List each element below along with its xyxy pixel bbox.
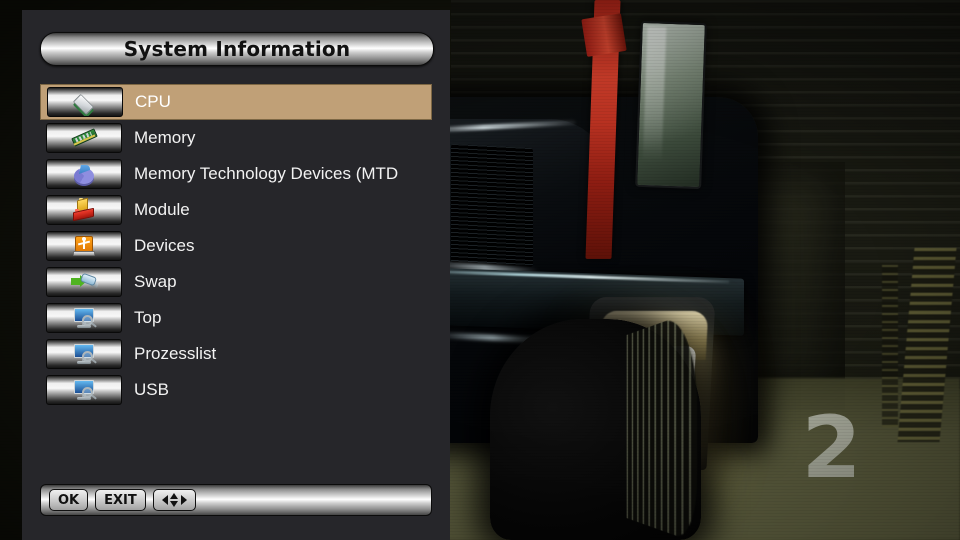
menu-item-label: Memory: [134, 128, 195, 148]
osd-screen: 2 System Information CPU: [0, 0, 960, 540]
exit-button[interactable]: EXIT: [95, 489, 146, 511]
panel-title-bar: System Information: [40, 32, 434, 66]
icon-frame: [47, 87, 123, 117]
ok-button[interactable]: OK: [49, 489, 88, 511]
system-information-menu: CPU Memory Memory Technology Devices (MT…: [40, 84, 432, 408]
icon-frame: [46, 231, 122, 261]
icon-frame: [46, 123, 122, 153]
monitor-search-icon: [71, 342, 97, 366]
monitor-search-icon: [71, 378, 97, 402]
icon-frame: [46, 303, 122, 333]
swap-usb-stick-icon: [71, 270, 97, 294]
menu-item-label: Prozesslist: [134, 344, 216, 364]
menu-item-label: Devices: [134, 236, 194, 256]
menu-item-prozesslist[interactable]: Prozesslist: [40, 336, 432, 372]
menu-item-label: USB: [134, 380, 169, 400]
menu-item-label: CPU: [135, 92, 171, 112]
navigation-arrows-icon: [162, 493, 187, 507]
button-bar: OK EXIT: [40, 484, 432, 516]
menu-item-cpu[interactable]: CPU: [40, 84, 432, 120]
menu-item-label: Memory Technology Devices (MTD: [134, 164, 398, 184]
menu-item-module[interactable]: Module: [40, 192, 432, 228]
menu-item-label: Swap: [134, 272, 177, 292]
menu-item-mtd[interactable]: Memory Technology Devices (MTD: [40, 156, 432, 192]
ground-number-marking: 2: [802, 413, 862, 484]
system-information-panel: System Information CPU Memory: [22, 10, 450, 540]
menu-item-top[interactable]: Top: [40, 300, 432, 336]
menu-item-usb[interactable]: USB: [40, 372, 432, 408]
icon-frame: [46, 375, 122, 405]
menu-item-memory[interactable]: Memory: [40, 120, 432, 156]
monitor-search-icon: [71, 306, 97, 330]
pie-chart-icon: [71, 162, 97, 186]
menu-item-label: Top: [134, 308, 161, 328]
truck-grille: [451, 144, 533, 267]
cpu-chip-icon: [72, 90, 98, 114]
ram-module-icon: [71, 126, 97, 150]
dpad-button[interactable]: [153, 489, 196, 511]
icon-frame: [46, 195, 122, 225]
icon-frame: [46, 267, 122, 297]
usb-device-icon: [71, 234, 97, 258]
icon-frame: [46, 159, 122, 189]
menu-item-devices[interactable]: Devices: [40, 228, 432, 264]
menu-item-label: Module: [134, 200, 190, 220]
menu-item-swap[interactable]: Swap: [40, 264, 432, 300]
icon-frame: [46, 339, 122, 369]
page-title: System Information: [124, 37, 351, 61]
lego-bricks-icon: [71, 198, 97, 222]
